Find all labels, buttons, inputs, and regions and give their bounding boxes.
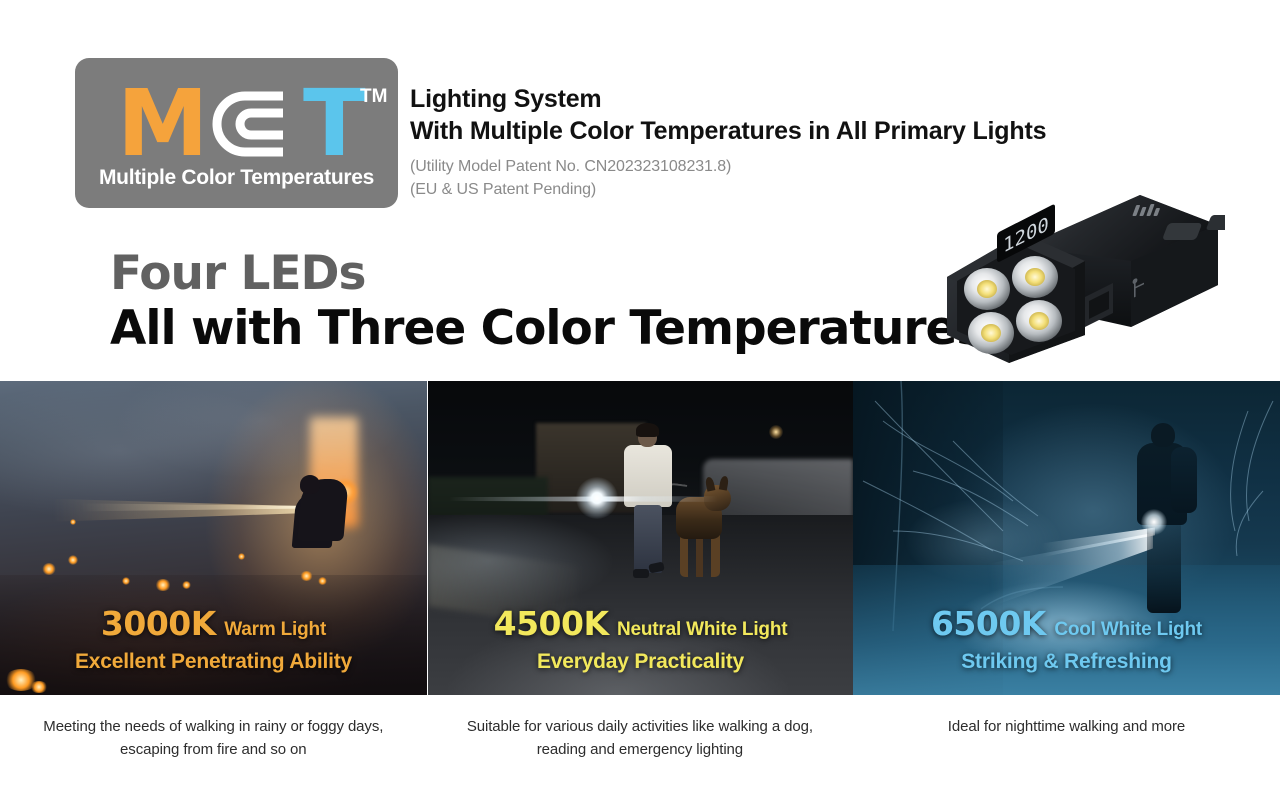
footer-caption-3000k: Meeting the needs of walking in rainy or… [0,705,427,790]
light-type-6500k: Cool White Light [1054,619,1202,640]
header-text-block: Lighting System With Multiple Color Temp… [410,83,1170,201]
logo-subtitle: Multiple Color Temperatures [75,166,398,190]
tagline-6500k: Striking & Refreshing [853,649,1280,675]
header-title-line2: With Multiple Color Temperatures in All … [410,115,1170,147]
panel-warm-3000k: 3000K Warm Light Excellent Penetrating A… [0,381,427,695]
tagline-4500k: Everyday Practicality [428,649,853,675]
kelvin-value-4500k: 4500K [494,604,609,643]
footer-captions: Meeting the needs of walking in rainy or… [0,705,1280,790]
main-headline: Four LEDs All with Three Color Temperatu… [110,247,983,356]
flashlight-illustration: 1200 [935,185,1225,370]
footer-caption-6500k: Ideal for nighttime walking and more [853,705,1280,790]
logo-double-c-icon [205,84,297,164]
tagline-3000k: Excellent Penetrating Ability [0,649,427,675]
trademark-symbol: TM [360,86,387,108]
panel-cool-6500k: 6500K Cool White Light Striking & Refres… [853,381,1280,695]
logo-letter-m: M [117,78,207,170]
header-title-line1: Lighting System [410,83,1170,115]
light-type-3000k: Warm Light [224,619,326,640]
headline-line-2: All with Three Color Temperatures [110,301,983,356]
panel-caption-4500k: 4500K Neutral White Light Everyday Pract… [428,604,853,675]
panel-neutral-4500k: 4500K Neutral White Light Everyday Pract… [428,381,853,695]
footer-caption-4500k: Suitable for various daily activities li… [427,705,854,790]
kelvin-value-3000k: 3000K [101,604,216,643]
headline-line-1: Four LEDs [110,247,983,301]
scenario-panels: 3000K Warm Light Excellent Penetrating A… [0,381,1280,695]
panel-caption-6500k: 6500K Cool White Light Striking & Refres… [853,604,1280,675]
patent-line-1: (Utility Model Patent No. CN202323108231… [410,155,1170,178]
mct-product-infographic: M T TM Multiple Color Temperatures Light… [0,0,1280,800]
mct-logo-badge: M T TM Multiple Color Temperatures [75,58,398,208]
panel-caption-3000k: 3000K Warm Light Excellent Penetrating A… [0,604,427,675]
product-flashlight-image: 1200 [935,185,1225,370]
kelvin-value-6500k: 6500K [931,604,1046,643]
logo-letter-t: T [303,78,366,170]
light-type-4500k: Neutral White Light [617,619,787,640]
mct-logo-lockup: M T TM [75,72,398,167]
